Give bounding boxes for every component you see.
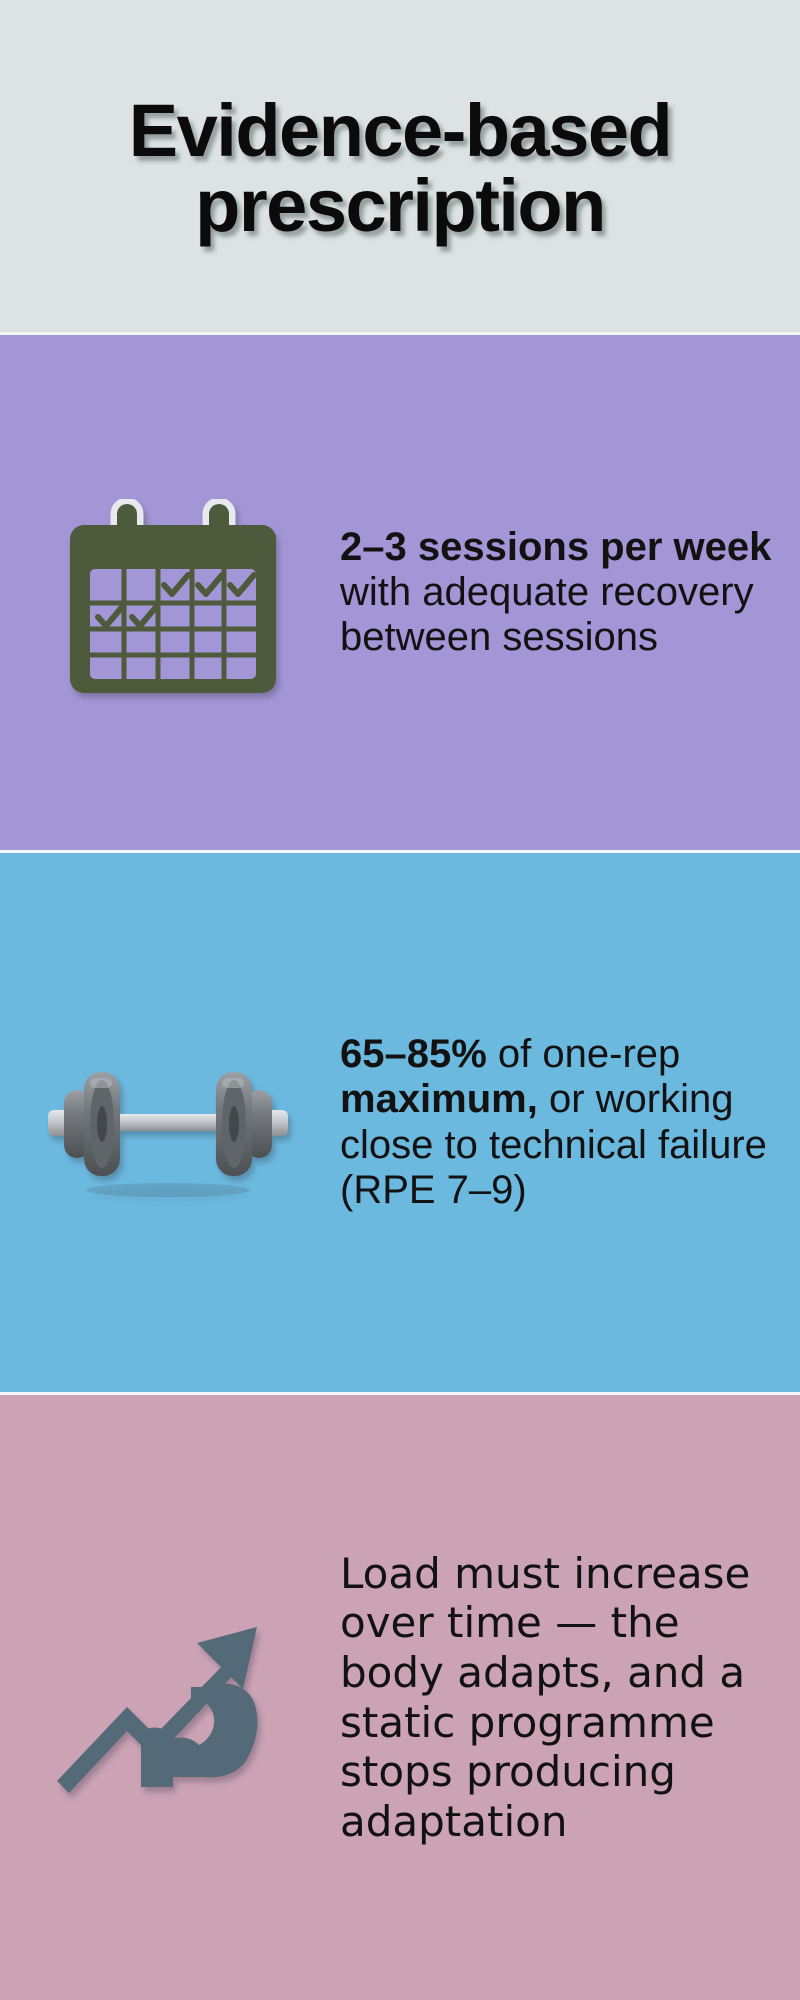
icon-column (0, 1603, 340, 1793)
section-frequency-rest: with adequate recovery between sessions (340, 570, 754, 659)
page-title: Evidence-based prescription (70, 93, 730, 244)
icon-column (0, 1048, 340, 1198)
icon-column (0, 491, 340, 695)
section-intensity-mid: of one-rep (487, 1032, 680, 1076)
section-frequency-emphasis: 2–3 sessions per week (340, 525, 771, 569)
text-column: Load must increase over time — the body … (340, 1549, 800, 1846)
section-progressive-overload: Load must increase over time — the body … (0, 1392, 800, 2000)
section-intensity: 65–85% of one-rep maximum, or working cl… (0, 850, 800, 1392)
section-intensity-text: 65–85% of one-rep maximum, or working cl… (340, 1032, 774, 1213)
section-frequency: 2–3 sessions per week with adequate reco… (0, 332, 800, 850)
header-banner: Evidence-based prescription (0, 0, 800, 332)
dumbbell-icon (44, 1048, 292, 1198)
infographic-root: Evidence-based prescription (0, 0, 800, 2000)
section-intensity-emphasis-2: maximum, (340, 1077, 538, 1121)
text-column: 65–85% of one-rep maximum, or working cl… (340, 1032, 800, 1213)
section-frequency-text: 2–3 sessions per week with adequate reco… (340, 525, 774, 661)
text-column: 2–3 sessions per week with adequate reco… (340, 525, 800, 661)
calendar-check-icon (68, 499, 278, 695)
section-intensity-emphasis-1: 65–85% (340, 1032, 487, 1076)
section-progressive-overload-text: Load must increase over time — the body … (340, 1549, 774, 1846)
growth-arrow-bicep-icon (51, 1613, 279, 1793)
